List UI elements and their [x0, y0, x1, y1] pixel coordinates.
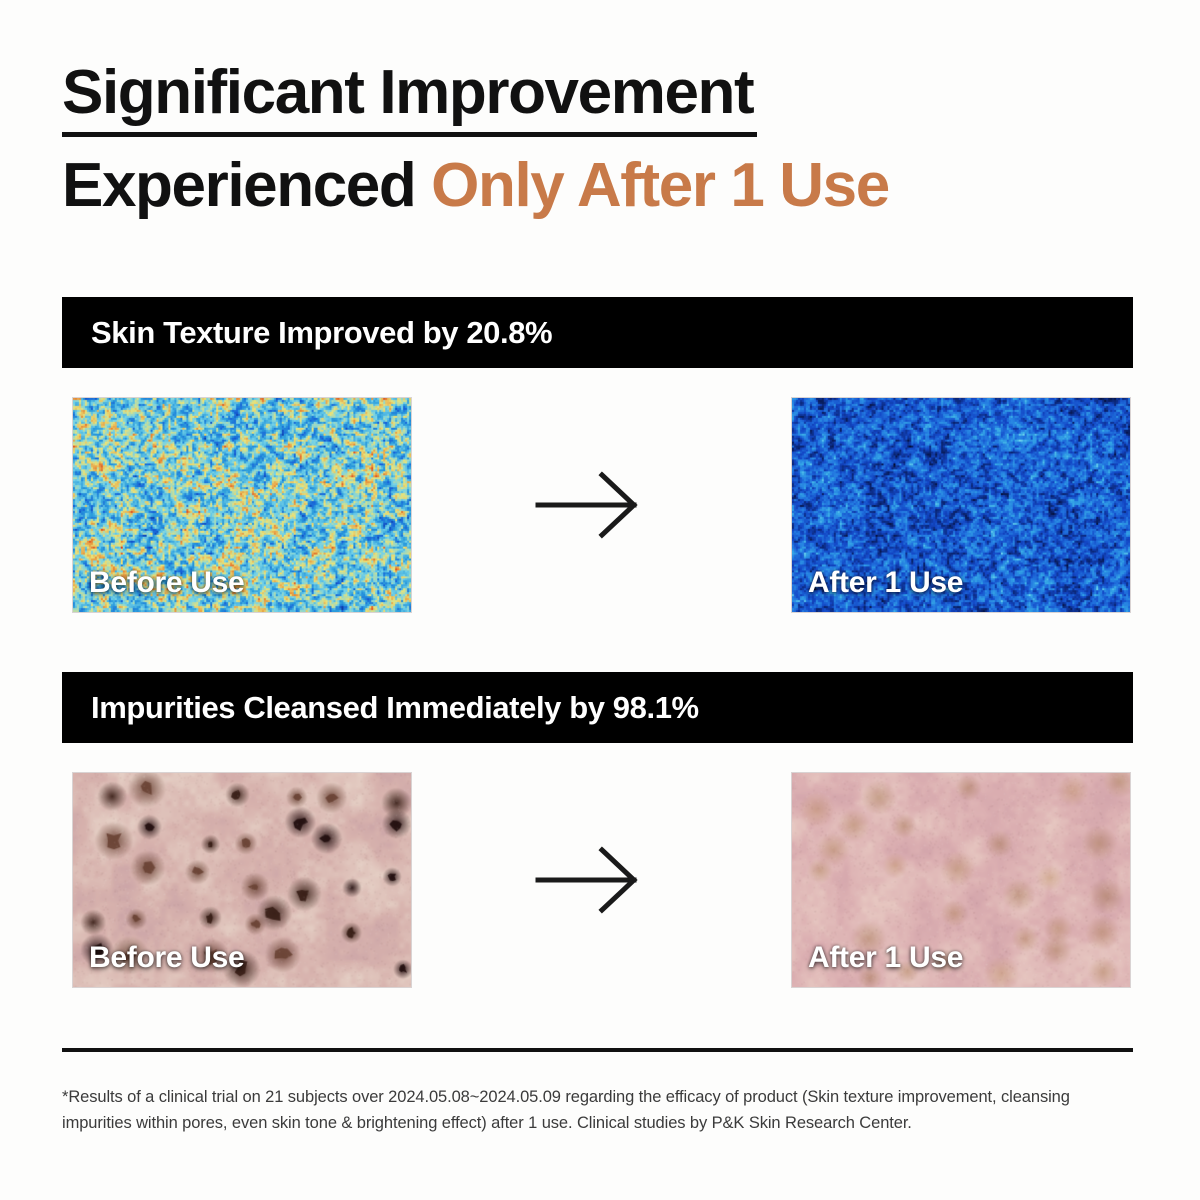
- before-after-compare: Before Use After 1 Use: [62, 772, 1133, 990]
- before-photo: Before Use: [72, 772, 412, 988]
- before-photo-label: Before Use: [89, 941, 244, 975]
- result-section-impurities: Impurities Cleansed Immediately by 98.1%…: [62, 672, 1133, 990]
- headline-line-2-accent: Only After 1 Use: [431, 151, 889, 220]
- banner-text: Skin Texture Improved by: [91, 315, 466, 350]
- banner-percent: 98.1%: [613, 690, 699, 725]
- after-photo: After 1 Use: [791, 772, 1131, 988]
- arrow-right-icon: [534, 842, 644, 918]
- page-title: Significant Improvement Experienced Only…: [62, 58, 1142, 221]
- headline-line-1: Significant Improvement: [62, 58, 757, 137]
- after-photo-label: After 1 Use: [808, 566, 963, 600]
- footer-divider: [62, 1048, 1133, 1052]
- promo-infographic: Significant Improvement Experienced Only…: [0, 0, 1200, 1200]
- arrow-right-icon: [534, 467, 644, 543]
- banner-percent: 20.8%: [466, 315, 552, 350]
- banner-label: Impurities Cleansed Immediately by 98.1%: [91, 690, 699, 726]
- before-photo-label: Before Use: [89, 566, 244, 600]
- before-after-compare: Before Use After 1 Use: [62, 397, 1133, 615]
- footnote: *Results of a clinical trial on 21 subje…: [62, 1084, 1142, 1136]
- before-photo: Before Use: [72, 397, 412, 613]
- section-banner: Skin Texture Improved by 20.8%: [62, 297, 1133, 368]
- after-photo: After 1 Use: [791, 397, 1131, 613]
- result-section-skin-texture: Skin Texture Improved by 20.8% Before Us…: [62, 297, 1133, 615]
- banner-text: Impurities Cleansed Immediately by: [91, 690, 613, 725]
- footnote-line-1: *Results of a clinical trial on 21 subje…: [62, 1088, 997, 1106]
- headline-line-2-plain: Experienced: [62, 151, 431, 220]
- headline-line-2: Experienced Only After 1 Use: [62, 151, 1142, 220]
- banner-label: Skin Texture Improved by 20.8%: [91, 315, 552, 351]
- after-photo-label: After 1 Use: [808, 941, 963, 975]
- section-banner: Impurities Cleansed Immediately by 98.1%: [62, 672, 1133, 743]
